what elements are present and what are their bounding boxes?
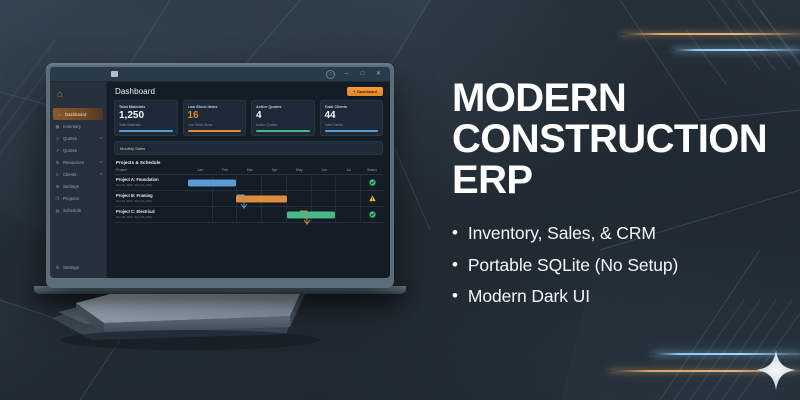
kpi-title: Active Quotes — [256, 105, 310, 109]
feature-bullet: •Modern Dark UI — [452, 285, 782, 307]
gantt-row[interactable]: Project B: FramingNov 14, 2022 - Nov 21,… — [114, 191, 383, 207]
bullet-icon: • — [452, 222, 458, 243]
kpi-title: Total Clients — [325, 105, 379, 109]
kpi-card-row: Total Materials1,250Total MaterialsLow S… — [107, 100, 390, 136]
kpi-card-total-clients[interactable]: Total Clients44Total Clients — [320, 100, 384, 136]
home-icon: ⌂ — [57, 112, 62, 117]
main-content: Dashboard + Dashboard Total Materials1,2… — [107, 82, 390, 278]
sidebar-item-projects-7[interactable]: ❐Projects — [50, 192, 106, 204]
gantt-month-label: Jan — [188, 168, 213, 172]
gantt-row[interactable]: Project A: FoundationNov 01, 2023 - Nov … — [114, 175, 383, 191]
plus-icon: + — [353, 90, 355, 94]
headline-line: ERP — [452, 160, 782, 201]
primary-button-label: Dashboard — [357, 90, 377, 94]
project-dates: Nov 18, 2022 - Nov 29, 2022 — [116, 215, 188, 219]
chevron-down-icon: ▾ — [100, 136, 102, 140]
sidebar-item-label: Inventory — [63, 124, 102, 129]
feature-bullet: •Inventory, Sales, & CRM — [452, 222, 782, 244]
sidebar-item-quotes-3[interactable]: ↗Quotes — [50, 144, 106, 156]
gantt-col-project: Project — [114, 168, 188, 172]
kpi-value: 4 — [256, 111, 310, 121]
kpi-subtitle: Total Materials — [119, 123, 173, 127]
gantt-project-cell: Project C: ElectricalNov 18, 2022 - Nov … — [114, 210, 188, 219]
marketing-copy: MODERNCONSTRUCTIONERP •Inventory, Sales,… — [452, 78, 782, 317]
folder-icon: ❐ — [55, 196, 60, 201]
kpi-value: 1,250 — [119, 111, 173, 121]
kpi-progress-bar — [119, 130, 173, 132]
sidebar-item-quotes-2[interactable]: ◇Quotes▾ — [50, 132, 106, 144]
chart-icon: ↗ — [55, 148, 60, 153]
sidebar-item-clients-5[interactable]: ☺Clients▾ — [50, 168, 106, 180]
sidebar-item-dashboard-0[interactable]: ⌂Dashboard — [53, 108, 103, 120]
construction-erp-logo: ⌂ — [50, 84, 106, 105]
window-title-bar: ○ ─ □ ✕ — [50, 67, 390, 82]
headline-line: MODERN — [452, 78, 782, 119]
kpi-card-active-quotes[interactable]: Active Quotes4Active Quotes — [251, 100, 315, 136]
kpi-card-total-materials[interactable]: Total Materials1,250Total Materials — [114, 100, 178, 136]
account-icon[interactable]: ○ — [326, 70, 335, 79]
sidebar-item-label: Quotes — [63, 148, 102, 153]
gantt-bar[interactable] — [188, 179, 236, 186]
sidebar-item-inventory-1[interactable]: ▦Inventory — [50, 120, 106, 132]
sidebar-item-label: Dashboard — [65, 112, 99, 117]
chevron-down-icon: ▾ — [100, 172, 102, 176]
sidebar-footer: ⚙ Settings — [50, 261, 106, 278]
sidebar-item-label: Quotes — [63, 136, 97, 141]
feature-bullet-label: Inventory, Sales, & CRM — [468, 222, 656, 244]
gantt-project-cell: Project B: FramingNov 14, 2022 - Nov 21,… — [114, 194, 188, 203]
chevron-down-icon: ▾ — [100, 160, 102, 164]
gantt-grid: Project JanFebMarAprMayJunJul Status Pro… — [114, 168, 383, 223]
gear-icon: ⚙ — [55, 184, 60, 189]
minimize-icon[interactable]: ─ — [342, 70, 351, 79]
headline: MODERNCONSTRUCTIONERP — [452, 78, 782, 200]
kpi-title: Low Stock Items — [188, 105, 242, 109]
sidebar-item-label: Clients — [63, 172, 97, 177]
main-header: Dashboard + Dashboard — [107, 82, 390, 100]
project-name: Project C: Electrical — [116, 210, 188, 215]
kpi-progress-bar — [325, 130, 379, 132]
kpi-progress-bar — [256, 130, 310, 132]
gantt-header-row: Project JanFebMarAprMayJunJul Status — [114, 168, 383, 175]
sidebar-item-label: Resources — [63, 160, 97, 165]
monthly-sales-title: Monthly Sales — [120, 146, 145, 151]
headline-line: CONSTRUCTION — [452, 119, 782, 160]
sidebar-nav-list: ⌂Dashboard▦Inventory◇Quotes▾↗Quotes⚙Reso… — [50, 108, 106, 216]
box-icon: ▦ — [55, 124, 60, 129]
feature-bullet: •Portable SQLite (No Setup) — [452, 254, 782, 276]
status-badge-complete — [369, 211, 376, 218]
check-circle-icon — [369, 179, 376, 186]
gantt-month-label: Jun — [312, 168, 337, 172]
gantt-month-label: Jul — [336, 168, 361, 172]
kpi-progress-bar — [188, 130, 242, 132]
logo-glyph: ⌂ — [57, 90, 63, 100]
project-name: Project A: Foundation — [116, 178, 188, 183]
kpi-subtitle: Active Quotes — [256, 123, 310, 127]
kpi-title: Total Materials — [119, 105, 173, 109]
gantt-status-cell — [361, 179, 383, 186]
status-badge-warning — [369, 195, 376, 202]
app-body: ⌂ ⌂Dashboard▦Inventory◇Quotes▾↗Quotes⚙Re… — [50, 82, 390, 278]
sidebar-item-label: Settings — [63, 265, 102, 270]
sidebar-spacer — [50, 216, 106, 261]
feature-bullet-list: •Inventory, Sales, & CRM•Portable SQLite… — [452, 222, 782, 307]
app-window: ○ ─ □ ✕ ⌂ ⌂Dashboard▦Inventory◇Quotes▾↗Q… — [50, 67, 390, 278]
sidebar: ⌂ ⌂Dashboard▦Inventory◇Quotes▾↗Quotes⚙Re… — [50, 82, 107, 278]
project-name: Project B: Framing — [116, 194, 188, 199]
sidebar-item-label: Settings — [63, 184, 102, 189]
check-circle-icon — [369, 211, 376, 218]
gantt-bar[interactable] — [287, 211, 335, 218]
sidebar-item-settings-footer[interactable]: ⚙ Settings — [50, 261, 106, 273]
gantt-month-headers: JanFebMarAprMayJunJul — [188, 168, 361, 172]
gantt-bar[interactable] — [236, 195, 286, 202]
gantt-title: Projects & Schedule — [114, 159, 383, 168]
bullet-icon: • — [452, 254, 458, 275]
close-icon[interactable]: ✕ — [374, 70, 383, 79]
sparkle-icon — [754, 348, 798, 392]
gantt-project-cell: Project A: FoundationNov 01, 2023 - Nov … — [114, 178, 188, 187]
decor-glow-line-blue-top — [672, 49, 800, 51]
sidebar-item-label: Projects — [63, 196, 102, 201]
feature-bullet-label: Portable SQLite (No Setup) — [468, 254, 678, 276]
monthly-sales-panel: Monthly Sales — [114, 141, 383, 155]
gantt-month-label: Feb — [213, 168, 238, 172]
status-badge-complete — [369, 179, 376, 186]
gantt-status-cell — [361, 211, 383, 218]
sidebar-item-settings-6[interactable]: ⚙Settings — [50, 180, 106, 192]
page-title: Dashboard — [115, 87, 155, 96]
project-dates: Nov 01, 2023 - Nov 13, 2023 — [116, 183, 188, 187]
kpi-subtitle: Low Stock Items — [188, 123, 242, 127]
gantt-row[interactable]: Project C: ElectricalNov 18, 2022 - Nov … — [114, 207, 383, 223]
decor-glow-line-gold-top — [620, 33, 800, 35]
kpi-value: 16 — [188, 111, 242, 121]
laptop-device: ○ ─ □ ✕ ⌂ ⌂Dashboard▦Inventory◇Quotes▾↗Q… — [46, 63, 394, 288]
maximize-icon[interactable]: □ — [358, 70, 367, 79]
dashboard-primary-button[interactable]: + Dashboard — [347, 87, 383, 96]
gear-icon: ⚙ — [55, 265, 60, 270]
sidebar-item-label: Schedule — [63, 208, 102, 213]
kpi-value: 44 — [325, 111, 379, 121]
gantt-month-label: Mar — [237, 168, 262, 172]
gantt-month-label: May — [287, 168, 312, 172]
users-icon: ☺ — [55, 172, 60, 177]
gantt-col-status: Status — [361, 168, 383, 172]
gantt-status-cell — [361, 195, 383, 202]
gantt-track — [188, 207, 361, 222]
sidebar-item-resources-4[interactable]: ⚙Resources▾ — [50, 156, 106, 168]
title-bar-left — [50, 71, 121, 77]
gantt-month-label: Apr — [262, 168, 287, 172]
sidebar-item-schedule-8[interactable]: ▤Schedule — [50, 204, 106, 216]
tag-icon: ◇ — [55, 136, 60, 141]
bullet-icon: • — [452, 285, 458, 306]
project-dates: Nov 14, 2022 - Nov 21, 2022 — [116, 199, 188, 203]
gear-icon: ⚙ — [55, 160, 60, 165]
gantt-gridlines — [188, 207, 361, 222]
projects-schedule-panel: Projects & Schedule Project JanFebMarApr… — [114, 159, 383, 278]
kpi-card-low-stock-items[interactable]: Low Stock Items16Low Stock Items — [183, 100, 247, 136]
warning-icon — [369, 195, 376, 202]
gantt-track — [188, 191, 361, 206]
gantt-rows: Project A: FoundationNov 01, 2023 - Nov … — [114, 175, 383, 223]
calendar-icon: ▤ — [55, 208, 60, 213]
gantt-track — [188, 175, 361, 190]
window-controls: ○ ─ □ ✕ — [326, 70, 386, 79]
kpi-subtitle: Total Clients — [325, 123, 379, 127]
hamburger-icon[interactable] — [107, 71, 121, 77]
feature-bullet-label: Modern Dark UI — [468, 285, 590, 307]
